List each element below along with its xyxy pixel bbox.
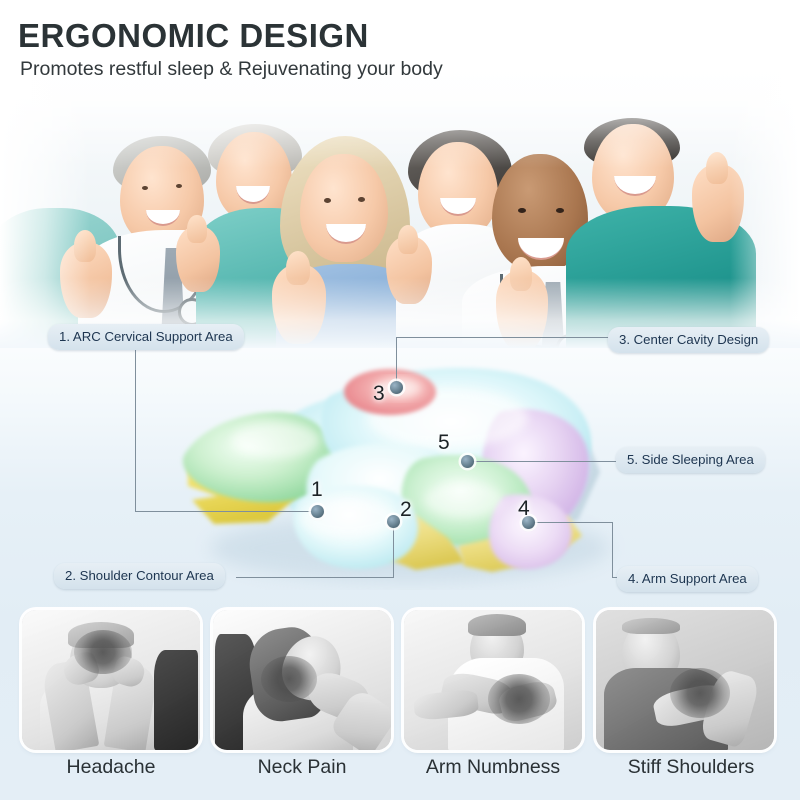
pain-indicator-arm-numbness — [488, 674, 550, 724]
page-title: ERGONOMIC DESIGN — [18, 17, 369, 55]
infographic-page: ERGONOMIC DESIGN Promotes restful sleep … — [0, 0, 800, 800]
thumbs-up-icon — [692, 164, 744, 242]
pain-indicator-stiff-shoulders — [670, 668, 730, 718]
marker-1-number: 1 — [311, 478, 323, 502]
symptom-photo-stiff-shoulders — [596, 610, 774, 750]
marker-5[interactable] — [461, 455, 474, 468]
callout-5[interactable]: 5. Side Sleeping Area — [616, 447, 765, 473]
marker-3-number: 3 — [373, 382, 385, 406]
pain-indicator-headache — [74, 630, 132, 674]
symptom-photo-neck-pain — [213, 610, 391, 750]
callout-1[interactable]: 1. ARC Cervical Support Area — [48, 324, 244, 350]
leader-line-3-v — [396, 337, 397, 385]
symptom-card-arm-numbness[interactable] — [404, 610, 582, 750]
marker-3[interactable] — [390, 381, 403, 394]
symptom-photo-arm-numbness — [404, 610, 582, 750]
symptom-caption-arm-numbness: Arm Numbness — [398, 756, 588, 779]
marker-2-number: 2 — [400, 498, 412, 522]
marker-2[interactable] — [387, 515, 400, 528]
leader-line-4-v — [612, 522, 613, 578]
page-subtitle: Promotes restful sleep & Rejuvenating yo… — [20, 58, 443, 81]
leader-line-5-h — [469, 461, 619, 462]
symptom-photo-headache — [22, 610, 200, 750]
symptom-caption-stiff-shoulders: Stiff Shoulders — [596, 756, 786, 779]
leader-line-3-h — [396, 337, 610, 338]
callout-3[interactable]: 3. Center Cavity Design — [608, 327, 769, 353]
callout-2[interactable]: 2. Shoulder Contour Area — [54, 563, 225, 589]
symptom-card-stiff-shoulders[interactable] — [596, 610, 774, 750]
thumbs-up-icon — [176, 226, 220, 292]
symptom-caption-neck-pain: Neck Pain — [207, 756, 397, 779]
leader-line-4-h — [533, 522, 613, 523]
pain-indicator-neck-pain — [261, 656, 317, 702]
callout-4[interactable]: 4. Arm Support Area — [617, 566, 758, 592]
leader-line-2-h — [236, 577, 394, 578]
symptom-card-neck-pain[interactable] — [213, 610, 391, 750]
marker-1[interactable] — [311, 505, 324, 518]
symptom-gallery: Headache Neck Pain — [0, 604, 800, 800]
symptom-card-headache[interactable] — [22, 610, 200, 750]
leader-line-1-v — [135, 350, 136, 512]
marker-5-number: 5 — [438, 431, 450, 455]
leader-line-1-h — [135, 511, 318, 512]
thumbs-up-icon — [60, 242, 112, 318]
thumbs-up-icon — [386, 236, 432, 304]
symptom-caption-headache: Headache — [16, 756, 206, 779]
leader-line-2-v — [393, 521, 394, 578]
marker-4-number: 4 — [518, 497, 530, 521]
